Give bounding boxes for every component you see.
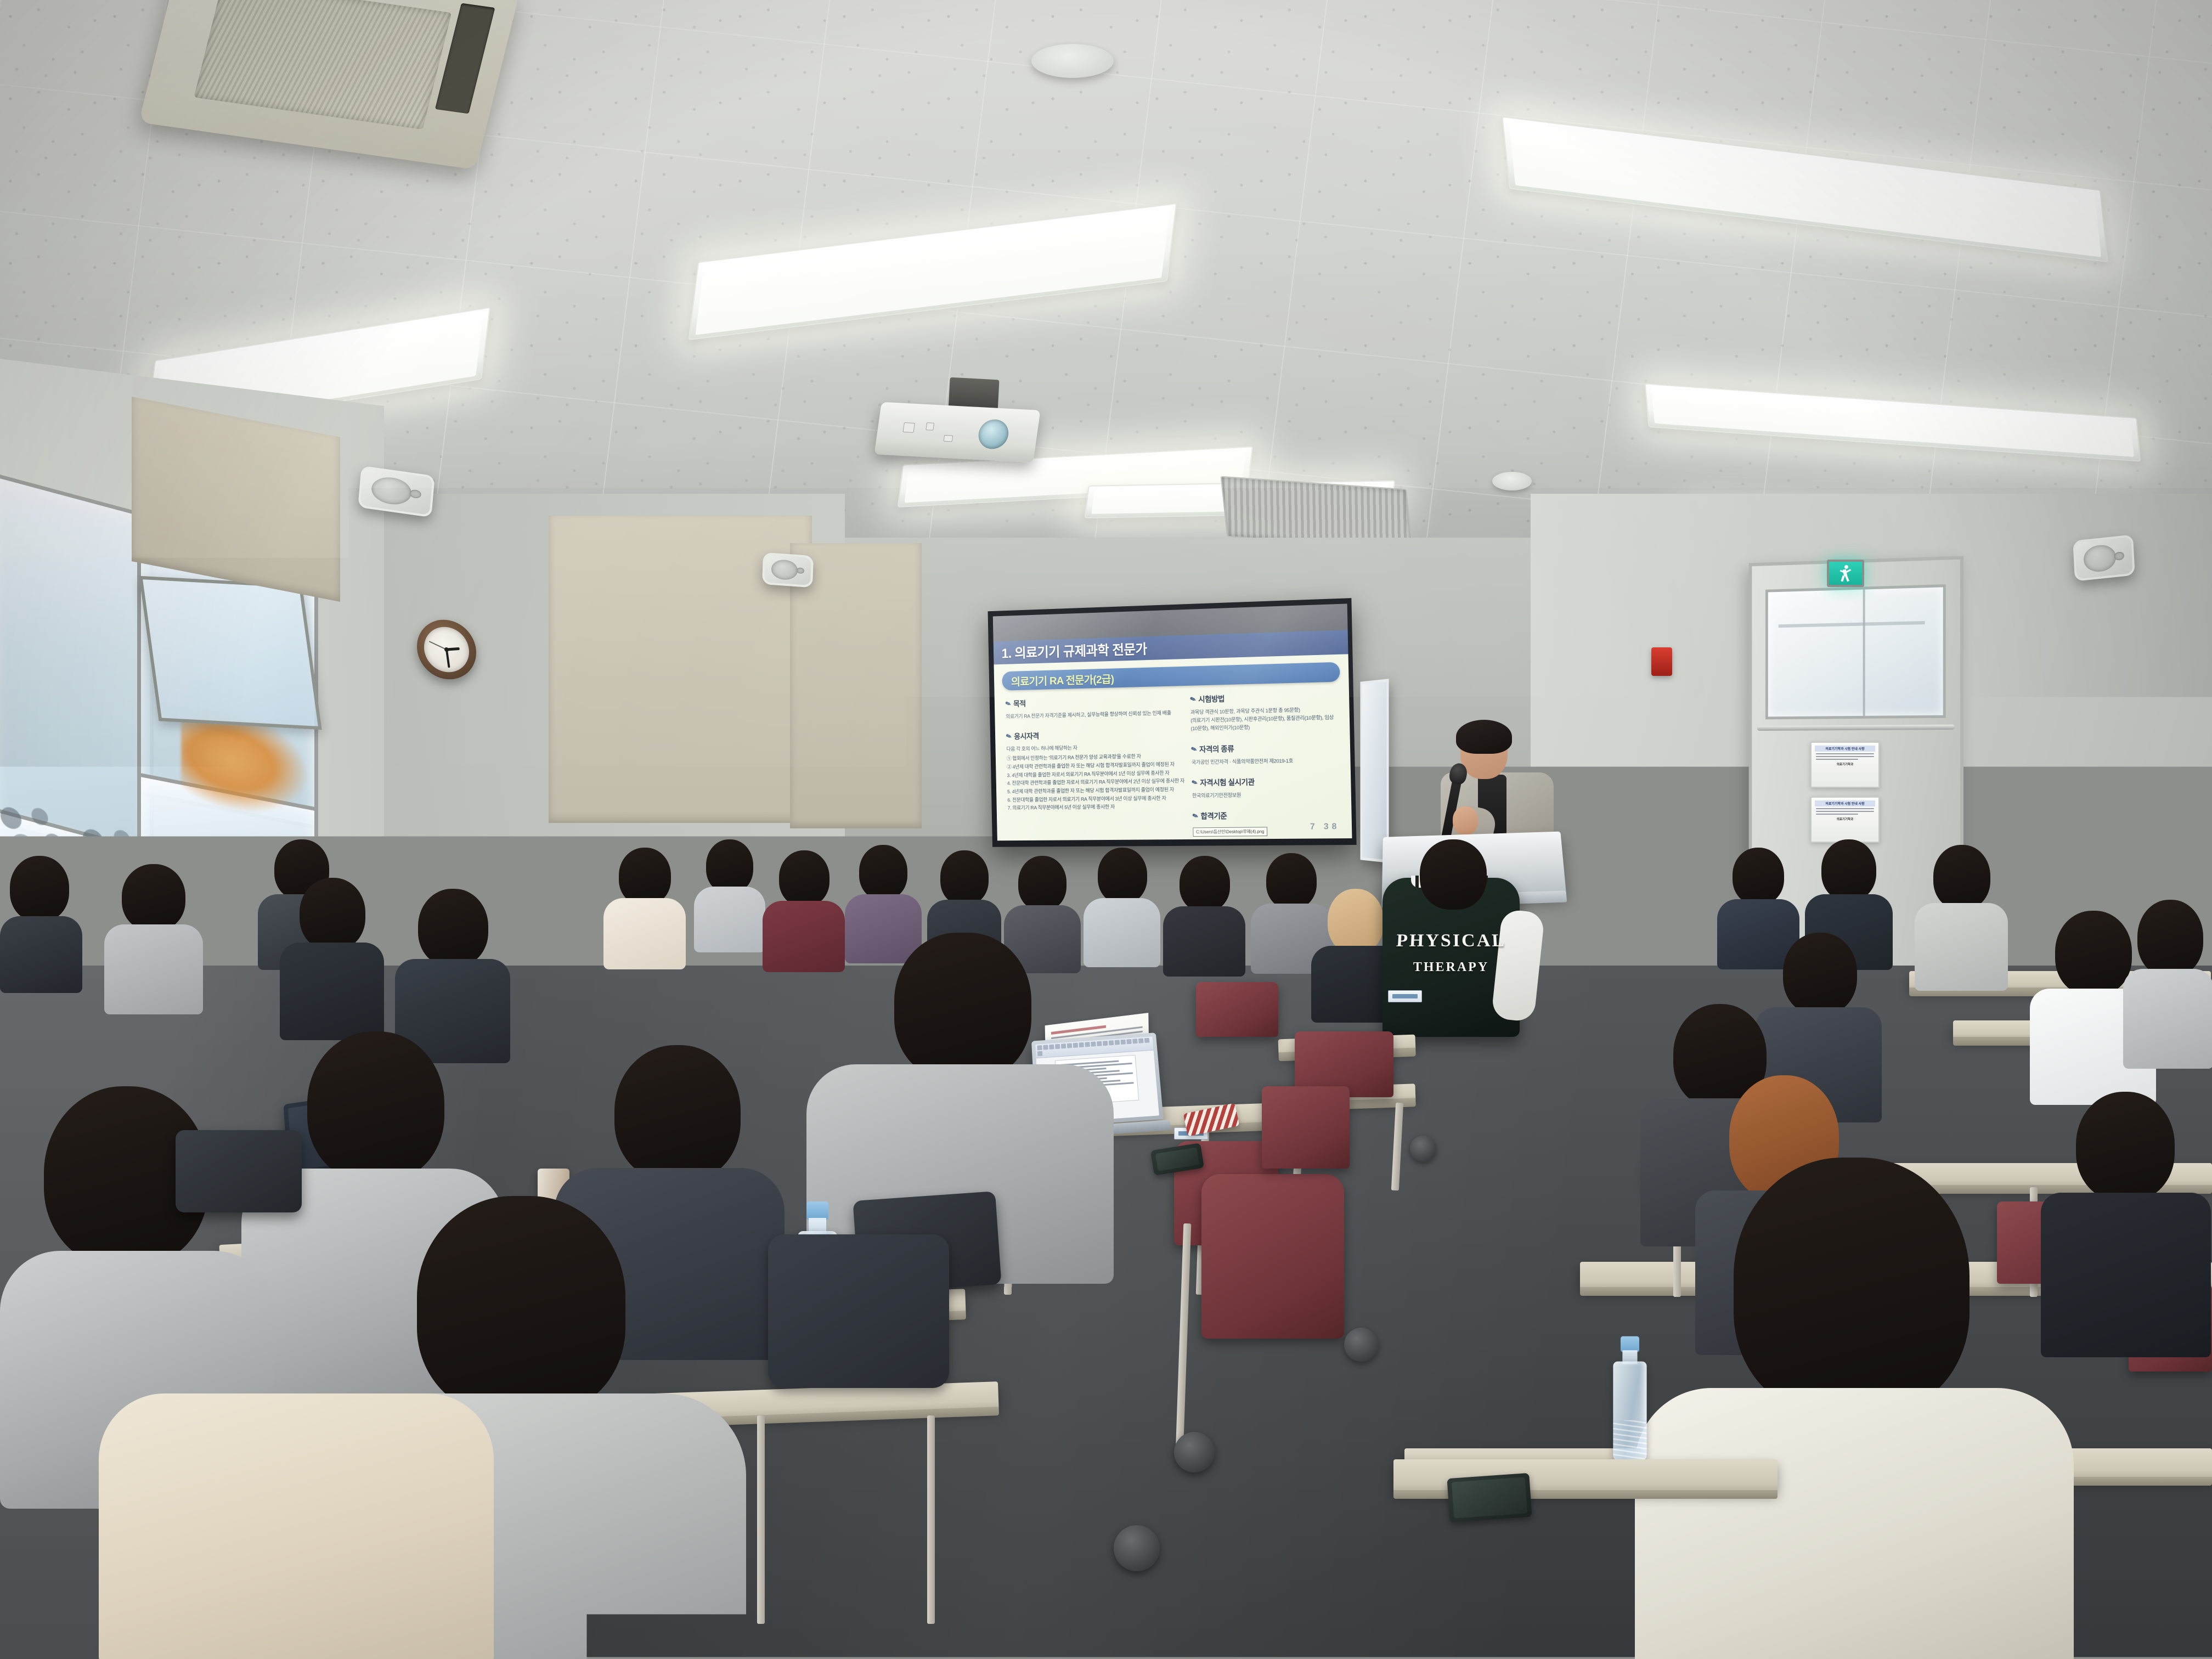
- slide-title: 1. 의료기기 규제과학 전문가: [994, 639, 1147, 662]
- slide-section-line: 전과목 40점 이상, 평균 60점 이상: [1193, 838, 1340, 840]
- slide-section-heading-label: 목적: [1013, 698, 1026, 709]
- foreground-fleece-jacket: [99, 1393, 494, 1659]
- slide-section-heading: ✎ 합격기준: [1193, 809, 1340, 821]
- slide-eligibility-intro: 다음 각 호의 어느 하나에 해당하는 자: [1006, 742, 1184, 754]
- audience-member: [2123, 900, 2212, 1064]
- ceiling-projector: [874, 402, 1040, 463]
- slide-section-heading: ✎ 시험방법: [1190, 691, 1337, 705]
- smoke-detector-icon: [1031, 44, 1114, 78]
- emergency-exit-sign: [1827, 560, 1864, 587]
- slide-page-total: 38: [1324, 822, 1340, 831]
- extinguisher-step-icon: [1599, 865, 1605, 871]
- smartphone[interactable]: [1447, 1473, 1532, 1522]
- slide-section-heading: ✎ 목적: [1006, 695, 1183, 709]
- door-notice-line: [1816, 808, 1874, 809]
- slide-section-heading-label: 시험방법: [1198, 693, 1224, 705]
- lecture-hall-photo: 1. 의료기기 규제과학 전문가 의료기기 RA 전문가(2급) ✎ 목적: [0, 0, 2212, 1659]
- slide-eligibility-list: ① 협회에서 인정하는 '의료기기 RA 전문가 양성 교육과정'을 수료한 자…: [1007, 752, 1185, 813]
- slide-columns: ✎ 목적 의료기기 RA 전문가 자격기준을 제시하고, 실무능력을 향상하여 …: [1001, 691, 1346, 841]
- chair[interactable]: [1201, 1174, 1344, 1339]
- slide-section-line: 국가공인 민간자격 · 식품의약품안전처 제2019-1호: [1192, 756, 1339, 766]
- audience-member: [694, 839, 765, 949]
- torso: [694, 887, 765, 952]
- speaker-tweeter-icon: [2114, 551, 2124, 560]
- door-notice: 의료기기학과 시험 안내 사항 의료기기학과: [1810, 742, 1880, 788]
- torso: [1163, 906, 1245, 977]
- torso: [603, 898, 686, 969]
- head: [417, 1196, 625, 1415]
- whiteboard: [1360, 679, 1389, 863]
- slide-section-heading: ✎ 자격시험 실시기관: [1192, 775, 1339, 788]
- control-switch-icon[interactable]: [1650, 795, 1662, 808]
- pen-icon: ✎: [1191, 811, 1199, 821]
- toolbar-icon[interactable]: [1138, 1038, 1144, 1043]
- head: [1783, 933, 1857, 1015]
- desk-leg: [757, 1415, 765, 1624]
- door-notice-line: [1816, 814, 1858, 815]
- head: [940, 850, 989, 905]
- wall-speaker: [762, 552, 814, 588]
- door-notice-line: [1816, 756, 1874, 757]
- fire-extinguisher-pictograms: [1592, 865, 1612, 871]
- list-item: 7. 의료기기 RA 직무분야에서 5년 이상 실무에 종사한 자: [1008, 803, 1186, 813]
- pen-icon: ✎: [1005, 699, 1012, 709]
- head: [1734, 1158, 1970, 1415]
- head: [1018, 856, 1066, 911]
- projection-screen: 1. 의료기기 규제과학 전문가 의료기기 RA 전문가(2급) ✎ 목적: [988, 598, 1357, 847]
- toolbar-icon[interactable]: [1120, 1040, 1126, 1045]
- door-notice-footer: 의료기기학과: [1815, 817, 1875, 821]
- slide-section-body: 의료기기 RA 전문가 자격기준을 제시하고, 실무능력을 향상하여 신뢰성 있…: [1006, 709, 1183, 721]
- awning-window-open[interactable]: [139, 576, 321, 730]
- head: [1266, 853, 1317, 909]
- chair[interactable]: [1262, 1086, 1350, 1169]
- desk-leg: [927, 1415, 935, 1624]
- slide-banner: 의료기기 RA 전문가(2급): [1002, 662, 1340, 691]
- jacket-text-line2: THERAPY: [1383, 960, 1520, 975]
- bottle-ridges: [1613, 1420, 1646, 1460]
- head: [1933, 845, 1990, 910]
- toolbar-icon[interactable]: [1144, 1038, 1150, 1043]
- slide-banner-label: 의료기기 RA 전문가(2급): [1002, 670, 1114, 689]
- chair-caster: [1344, 1328, 1378, 1362]
- projector-port: [926, 422, 934, 431]
- slide-section-heading-label: 합격기준: [1200, 810, 1227, 821]
- speaker-cone-icon: [370, 475, 413, 507]
- head: [859, 845, 907, 900]
- head: [706, 839, 753, 893]
- toolbar-icon[interactable]: [1126, 1039, 1132, 1044]
- broken-image-filepath: C:\Users\등산인\Desktop\무제(4).png: [1193, 827, 1267, 837]
- water-bottle[interactable]: [1610, 1336, 1643, 1435]
- slide-body: 의료기기 RA 전문가(2급) ✎ 목적 의료기기 RA 전문가 자격기준을 제…: [994, 654, 1352, 840]
- slide-section-line: (의료기기 시판전(10문항), 시판후관리(10문항), 품질관리(10문항)…: [1190, 714, 1338, 733]
- head: [2076, 1092, 2175, 1201]
- clock-center-pin: [444, 647, 449, 652]
- door-window: [1765, 584, 1946, 719]
- head: [418, 889, 488, 967]
- jacket-text-line1: PHYSICAL: [1381, 931, 1520, 951]
- slide-section-heading-label: 자격의 종류: [1199, 743, 1234, 755]
- audience-member: [0, 856, 82, 988]
- door-notice-line: [1816, 753, 1874, 754]
- audience-member: [1163, 856, 1245, 974]
- door-push-bar[interactable]: [1757, 725, 1955, 731]
- head: [1180, 856, 1230, 912]
- chair-caster: [1410, 1136, 1436, 1162]
- foreground-audience-member: [1635, 1158, 2074, 1659]
- head: [614, 1045, 741, 1182]
- head: [1328, 889, 1384, 953]
- wall-speaker: [2073, 534, 2135, 581]
- head: [300, 878, 365, 950]
- projector-lens-icon: [977, 419, 1010, 450]
- head: [2137, 900, 2203, 977]
- slide-page-current: 7: [1310, 822, 1318, 832]
- slide-section-heading: ✎ 자격의 종류: [1191, 741, 1338, 755]
- pen-icon: ✎: [1005, 732, 1013, 742]
- speaker-cone-icon: [2083, 544, 2117, 573]
- chair[interactable]: [1196, 982, 1278, 1037]
- clock-minute-hand: [445, 650, 450, 668]
- torso: [1915, 903, 2008, 991]
- running-man-icon: [1839, 565, 1852, 582]
- head: [2055, 911, 2132, 996]
- chair-caster: [1174, 1432, 1215, 1472]
- presenter-hand: [1453, 806, 1478, 835]
- slide-section-cert-type: ✎ 자격의 종류 국가공인 민간자격 · 식품의약품안전처 제2019-1호: [1191, 741, 1339, 766]
- pen-icon: ✎: [1190, 778, 1199, 788]
- door-notice-line: [1816, 759, 1858, 760]
- head: [1420, 839, 1487, 910]
- door-notice-line: [1816, 811, 1874, 812]
- head: [1821, 839, 1876, 901]
- head: [307, 1031, 444, 1182]
- torso: [0, 916, 82, 993]
- extinguisher-step-icon: [1606, 865, 1612, 871]
- torso: [280, 943, 384, 1040]
- door-notice-footer: 의료기기학과: [1815, 762, 1875, 766]
- door-notice-title: 의료기기학과 시험 안내 사항: [1815, 746, 1875, 752]
- slide-section-heading-label: 자격시험 실시기관: [1200, 776, 1255, 788]
- audience-member: [603, 848, 686, 963]
- presenter-hair: [1456, 720, 1512, 754]
- head: [1733, 848, 1784, 905]
- slide-left-column: ✎ 목적 의료기기 RA 전문가 자격기준을 제시하고, 실무능력을 향상하여 …: [1006, 695, 1186, 841]
- head: [1098, 848, 1147, 904]
- toolbar-icon[interactable]: [1132, 1039, 1138, 1043]
- toolbar-icon[interactable]: [1115, 1040, 1120, 1045]
- door-notice: 의료기기학과 시험 안내 사항 의료기기학과: [1810, 797, 1880, 843]
- speaker-tweeter-icon: [409, 489, 422, 499]
- fire-extinguisher-sign: 소화기: [1587, 849, 1617, 882]
- slide-section-exam-body: ✎ 자격시험 실시기관 한국의료기기안전정보원: [1192, 775, 1339, 800]
- slide-section-exam-method: ✎ 시험방법 과목당 객관식 10문항, 과목당 주관식 1문항 총 95문항)…: [1190, 691, 1338, 733]
- torso: [1635, 1388, 2074, 1659]
- speaker-cone-icon: [771, 559, 798, 580]
- slide-section-purpose: ✎ 목적 의료기기 RA 전문가 자격기준을 제시하고, 실무능력을 향상하여 …: [1006, 695, 1183, 721]
- torso: [99, 1393, 494, 1659]
- chair[interactable]: [768, 1234, 949, 1388]
- control-switch-icon[interactable]: [1628, 795, 1640, 808]
- fire-alarm-icon[interactable]: [1651, 647, 1672, 676]
- head: [894, 933, 1031, 1081]
- pen-icon: ✎: [1190, 744, 1198, 754]
- audience-member: [280, 878, 384, 1037]
- bottle-cap: [806, 1201, 828, 1220]
- backpack: [176, 1130, 302, 1212]
- torso: [104, 924, 203, 1014]
- head: [10, 856, 69, 922]
- pen-icon: ✎: [1189, 695, 1197, 704]
- head: [122, 864, 185, 931]
- smoke-detector-icon: [1492, 472, 1532, 490]
- head: [779, 850, 830, 906]
- slide-section-heading: ✎ 응시자격: [1006, 728, 1184, 742]
- fire-extinguisher[interactable]: [1587, 913, 1610, 973]
- slide-page-number: 7 38: [1310, 822, 1340, 832]
- window-blind[interactable]: [790, 543, 922, 828]
- speaker-tweeter-icon: [797, 567, 805, 574]
- door-notice-title: 의료기기학과 시험 안내 사항: [1815, 800, 1875, 806]
- wall-control-panel[interactable]: [1618, 785, 1671, 819]
- extinguisher-step-icon: [1592, 865, 1598, 871]
- ac-grille: [194, 0, 452, 129]
- desk-placard: [1388, 990, 1422, 1002]
- audience-member: [1915, 845, 2008, 988]
- projector-port: [943, 435, 953, 442]
- slide-section-line: 한국의료기기안전정보원: [1192, 790, 1339, 800]
- fire-extinguisher-sign-label: 소화기: [1588, 851, 1616, 860]
- placard-text: [1392, 994, 1418, 998]
- slide-right-column: ✎ 시험방법 과목당 객관식 10문항, 과목당 주관식 1문항 총 95문항)…: [1190, 691, 1340, 841]
- slide-section-eligibility: ✎ 응시자격 다음 각 호의 어느 하나에 해당하는 자 ① 협회에서 인정하는…: [1006, 728, 1185, 813]
- audience-member-varsity-head: [1410, 839, 1498, 911]
- head: [619, 848, 671, 905]
- clock-face: [424, 625, 469, 675]
- projector-port: [903, 422, 915, 432]
- audience-member-cap: [104, 864, 203, 1012]
- presentation-slide: 1. 의료기기 규제과학 전문가 의료기기 RA 전문가(2급) ✎ 목적: [993, 603, 1352, 840]
- chair-caster: [1114, 1525, 1160, 1571]
- torso: [2123, 969, 2212, 1069]
- slide-section-heading-label: 응시자격: [1014, 731, 1039, 742]
